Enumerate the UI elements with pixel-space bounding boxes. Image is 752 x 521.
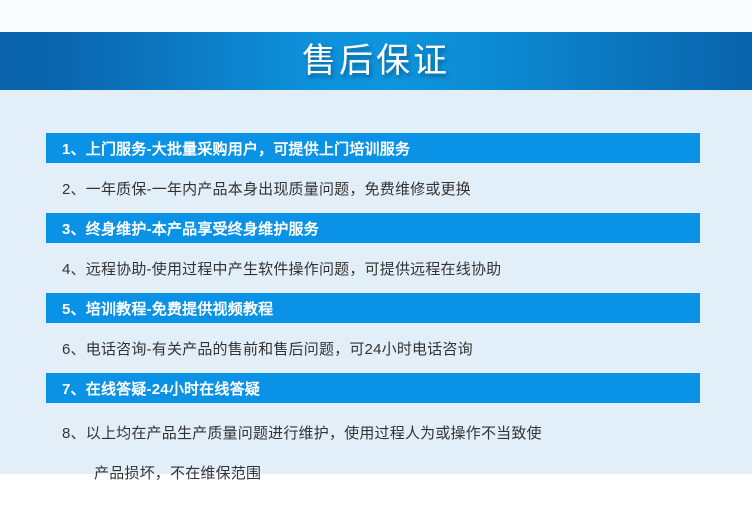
list-item-label: 2、一年质保-一年内产品本身出现质量问题，免费维修或更换 xyxy=(46,178,471,199)
list-item-bar: 5、培训教程-免费提供视频教程 xyxy=(46,293,700,323)
header-banner: 售后保证 xyxy=(0,32,752,90)
list-item: 8、以上均在产品生产质量问题进行维护，使用过程人为或操作不当致使 产品损坏，不在… xyxy=(0,413,752,491)
list-item-label-line2: 产品损坏，不在维保范围 xyxy=(62,454,700,494)
list-item-bar: 3、终身维护-本产品享受终身维护服务 xyxy=(46,213,700,243)
list-item-bar: 6、电话咨询-有关产品的售前和售后问题，可24小时电话咨询 xyxy=(46,333,700,363)
list-item-label: 4、远程协助-使用过程中产生软件操作问题，可提供远程在线协助 xyxy=(46,258,501,279)
list-item: 3、终身维护-本产品享受终身维护服务 xyxy=(0,213,752,253)
list-item: 6、电话咨询-有关产品的售前和售后问题，可24小时电话咨询 xyxy=(0,333,752,373)
list-item: 2、一年质保-一年内产品本身出现质量问题，免费维修或更换 xyxy=(0,173,752,213)
list-item-label: 6、电话咨询-有关产品的售前和售后问题，可24小时电话咨询 xyxy=(46,338,473,359)
list-item: 7、在线答疑-24小时在线答疑 xyxy=(0,373,752,413)
list-item-bar: 1、上门服务-大批量采购用户，可提供上门培训服务 xyxy=(46,133,700,163)
list-item: 4、远程协助-使用过程中产生软件操作问题，可提供远程在线协助 xyxy=(0,253,752,293)
list-item-label: 8、以上均在产品生产质量问题进行维护，使用过程人为或操作不当致使 xyxy=(62,414,700,454)
guarantee-list: 1、上门服务-大批量采购用户，可提供上门培训服务 2、一年质保-一年内产品本身出… xyxy=(0,90,752,491)
list-item: 1、上门服务-大批量采购用户，可提供上门培训服务 xyxy=(0,133,752,173)
top-white-strip xyxy=(0,0,752,32)
list-item: 5、培训教程-免费提供视频教程 xyxy=(0,293,752,333)
list-item-label: 1、上门服务-大批量采购用户，可提供上门培训服务 xyxy=(46,138,410,159)
list-item-bar: 7、在线答疑-24小时在线答疑 xyxy=(46,373,700,403)
list-item-label: 7、在线答疑-24小时在线答疑 xyxy=(46,378,260,399)
after-sales-guarantee-page: 售后保证 1、上门服务-大批量采购用户，可提供上门培训服务 2、一年质保-一年内… xyxy=(0,0,752,521)
list-item-bar: 8、以上均在产品生产质量问题进行维护，使用过程人为或操作不当致使 产品损坏，不在… xyxy=(46,413,700,491)
list-item-label: 3、终身维护-本产品享受终身维护服务 xyxy=(46,218,319,239)
list-item-bar: 2、一年质保-一年内产品本身出现质量问题，免费维修或更换 xyxy=(46,173,700,203)
page-title: 售后保证 xyxy=(0,32,752,90)
list-item-label: 5、培训教程-免费提供视频教程 xyxy=(46,298,273,319)
list-item-bar: 4、远程协助-使用过程中产生软件操作问题，可提供远程在线协助 xyxy=(46,253,700,283)
